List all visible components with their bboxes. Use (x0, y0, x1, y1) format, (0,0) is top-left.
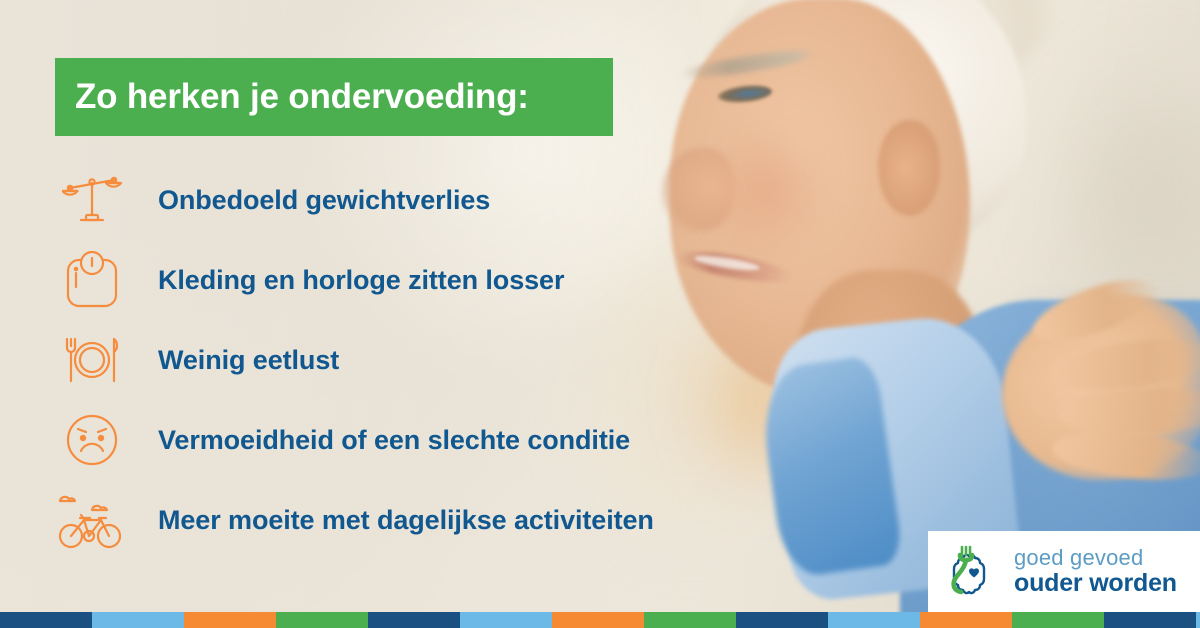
stripe-segment (552, 612, 644, 628)
list-item: Kleding en horloge zitten losser (50, 240, 810, 320)
list-item-label: Meer moeite met dagelijkse activiteiten (134, 505, 654, 536)
logo-wordmark: goed gevoed ouder worden (1004, 547, 1177, 596)
plate-cutlery-icon (50, 328, 134, 392)
list-item: Onbedoeld gewichtverlies (50, 160, 810, 240)
infographic-canvas: Zo herken je ondervoeding: (0, 0, 1200, 628)
logo-line-2: ouder worden (1014, 571, 1177, 596)
stripe-segment (276, 612, 368, 628)
bicycle-icon (50, 488, 134, 552)
stripe-segment (828, 612, 920, 628)
stripe-segment (1196, 612, 1200, 628)
list-item: Vermoeidheid of een slechte conditie (50, 400, 810, 480)
sad-face-icon (50, 408, 134, 472)
list-item-label: Kleding en horloge zitten losser (134, 265, 564, 296)
list-item-label: Vermoeidheid of een slechte conditie (134, 425, 630, 456)
house-heart-fork-icon (946, 543, 1004, 601)
list-item: Weinig eetlust (50, 320, 810, 400)
headline-banner: Zo herken je ondervoeding: (55, 58, 613, 136)
list-item: Meer moeite met dagelijkse activiteiten (50, 480, 810, 560)
logo[interactable]: goed gevoed ouder worden (928, 531, 1200, 612)
stripe-segment (92, 612, 184, 628)
stripe-segment (920, 612, 1012, 628)
list-item-label: Onbedoeld gewichtverlies (134, 185, 490, 216)
logo-line-1: goed gevoed (1014, 547, 1177, 569)
stripe-segment (1012, 612, 1104, 628)
color-stripe (0, 612, 1200, 628)
stripe-segment (0, 612, 92, 628)
list-item-label: Weinig eetlust (134, 345, 339, 376)
page-title: Zo herken je ondervoeding: (55, 77, 529, 117)
stripe-segment (460, 612, 552, 628)
balance-scale-icon (50, 168, 134, 232)
bathroom-scale-icon (50, 248, 134, 312)
stripe-segment (644, 612, 736, 628)
stripe-segment (368, 612, 460, 628)
symptom-list: Onbedoeld gewichtverlies Kleding en horl… (50, 160, 810, 560)
stripe-segment (184, 612, 276, 628)
stripe-segment (736, 612, 828, 628)
stripe-segment (1104, 612, 1196, 628)
